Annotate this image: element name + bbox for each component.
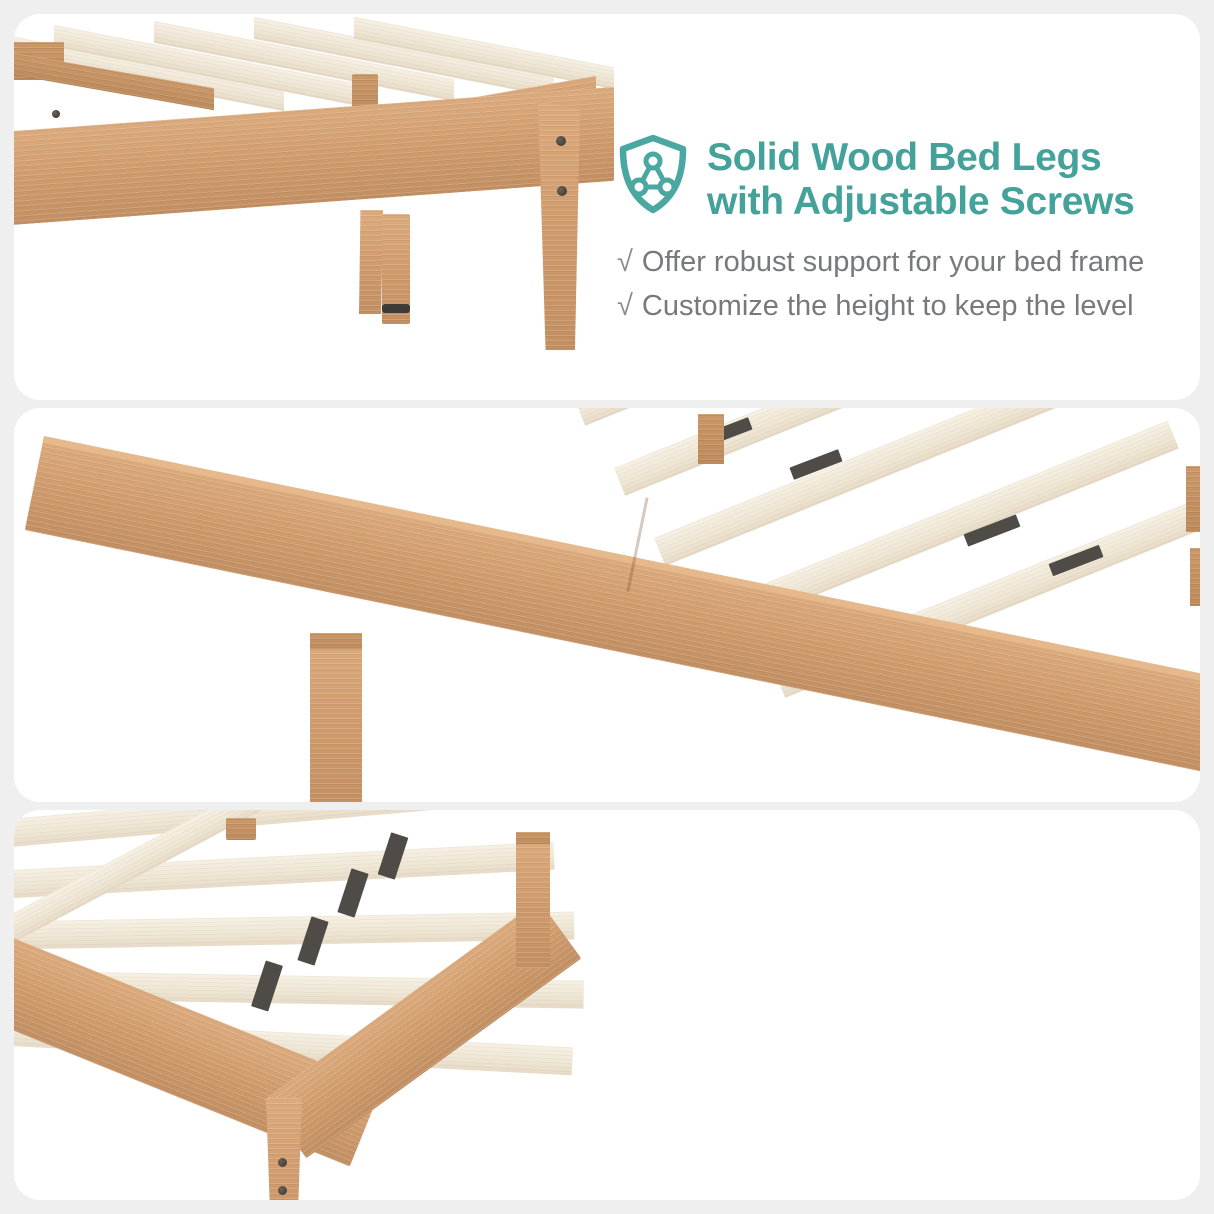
- feature-text-block-1: Solid Wood Bed Legs with Adjustable Scre…: [617, 132, 1144, 328]
- bullet-item: √ Offer robust support for your bed fram…: [617, 240, 1144, 284]
- bed-frame-photo-slats: [14, 810, 1200, 1200]
- bullet-text: Customize the height to keep the level: [642, 284, 1134, 328]
- check-icon: √: [617, 240, 633, 284]
- bullet-text: Offer robust support for your bed frame: [642, 240, 1144, 284]
- bullet-item: √ Customize the height to keep the level: [617, 284, 1144, 328]
- feature-panel-12-slats-bandage: lbs 12 Slats Connect with Bandage √ Enha…: [14, 810, 1200, 1200]
- bullet-list: √ Offer robust support for your bed fram…: [617, 240, 1144, 328]
- infographic-page: Solid Wood Bed Legs with Adjustable Scre…: [0, 0, 1214, 1214]
- feature-panel-solid-wood-bed-legs: Solid Wood Bed Legs with Adjustable Scre…: [14, 14, 1200, 400]
- feature-panel-updated-side-rails: Updated Wide and Thick Side Rails √ Rein…: [14, 408, 1200, 802]
- panel-headline: Solid Wood Bed Legs with Adjustable Scre…: [707, 136, 1135, 224]
- check-icon: √: [617, 284, 633, 328]
- shield-icon: [617, 134, 689, 219]
- headline-row: Solid Wood Bed Legs with Adjustable Scre…: [617, 132, 1144, 224]
- bed-frame-photo-side-rails: [14, 408, 1200, 802]
